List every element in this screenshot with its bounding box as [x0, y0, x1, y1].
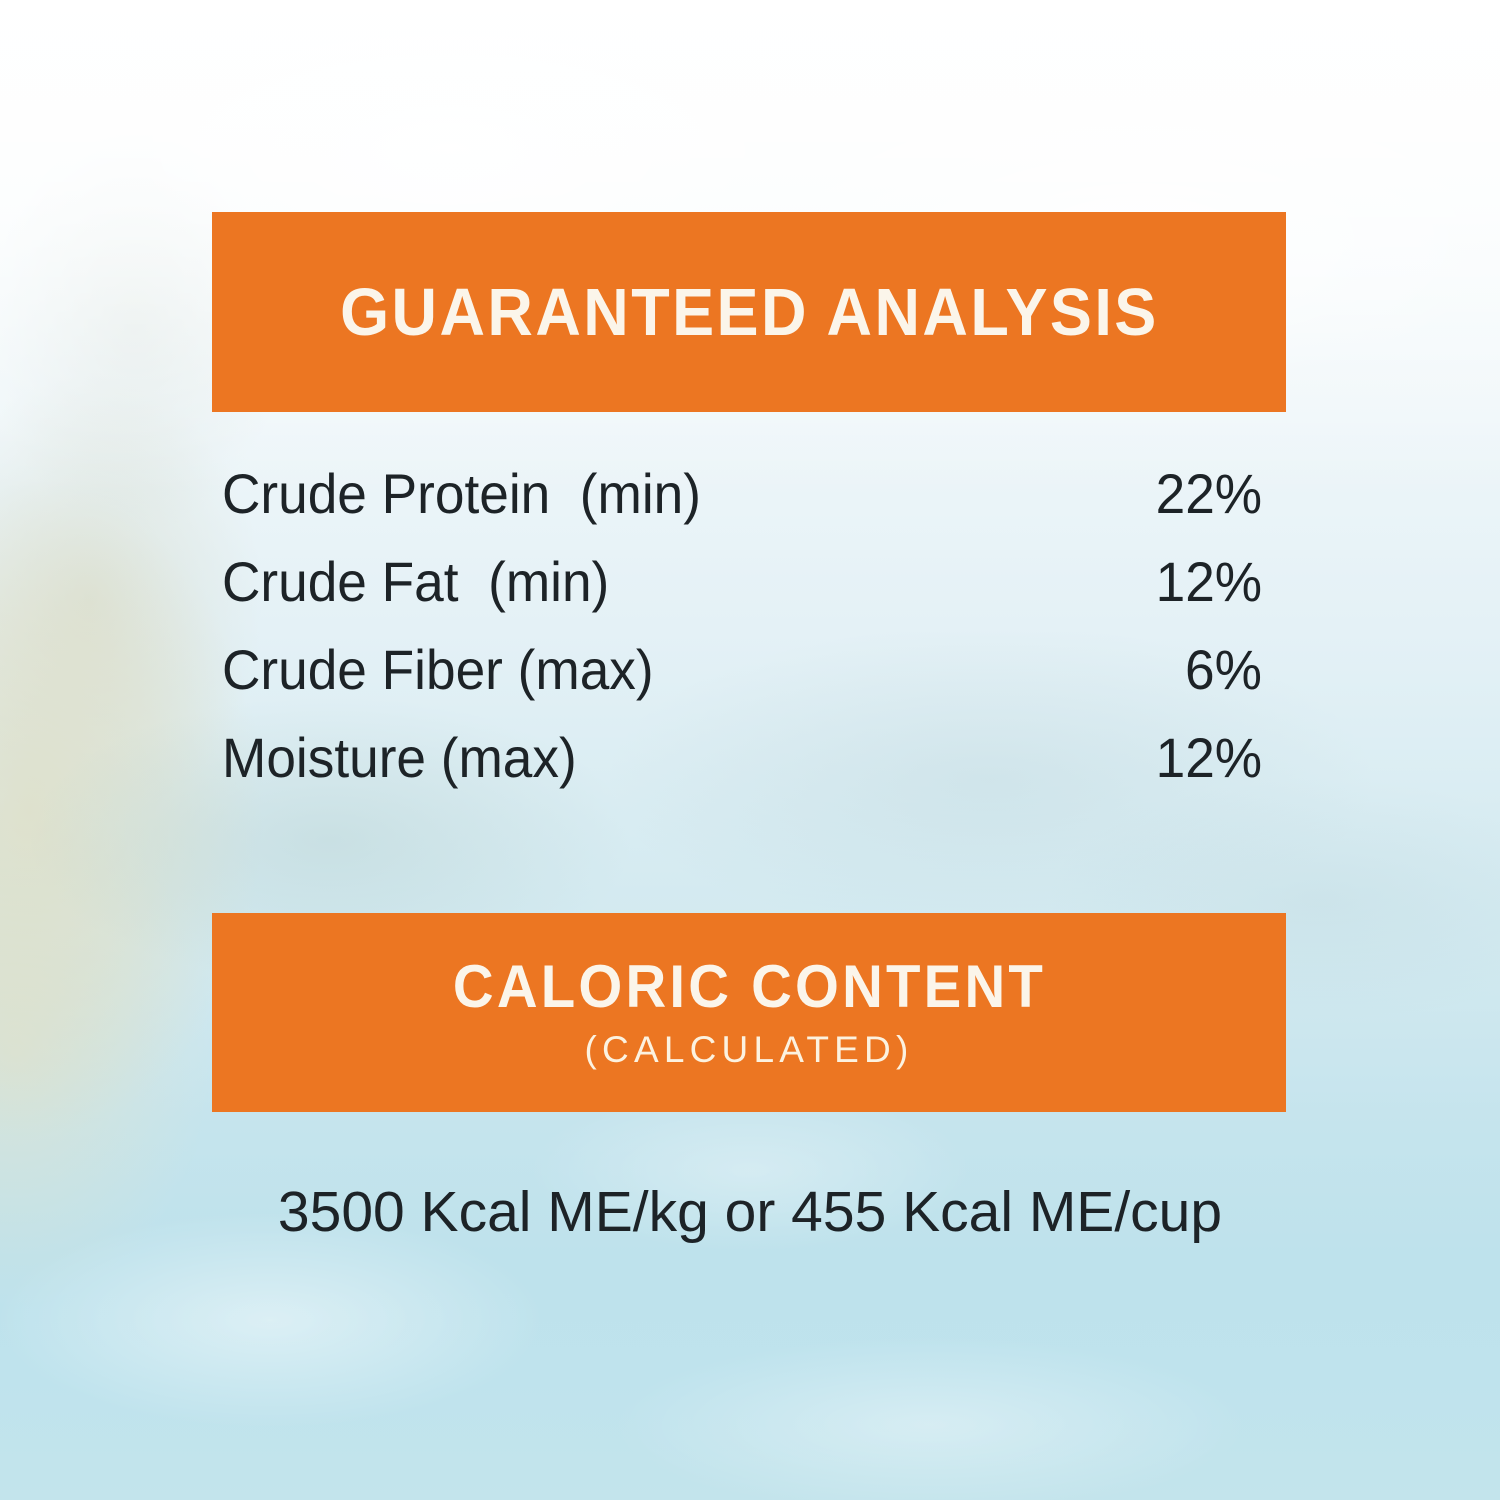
nutrient-label: Crude Protein (min) [222, 466, 701, 522]
table-row: Crude Fat (min) 12% [222, 554, 1262, 642]
guaranteed-analysis-table: Crude Protein (min) 22% Crude Fat (min) … [222, 466, 1262, 818]
table-row: Crude Protein (min) 22% [222, 466, 1262, 554]
caloric-content-subheading: (CALCULATED) [585, 1031, 914, 1068]
caloric-content-heading: CALORIC CONTENT [452, 957, 1045, 1017]
caloric-content-banner: CALORIC CONTENT (CALCULATED) [212, 913, 1286, 1112]
guaranteed-analysis-heading: GUARANTEED ANALYSIS [340, 279, 1159, 346]
table-row: Moisture (max) 12% [222, 730, 1262, 818]
nutrient-label: Crude Fat (min) [222, 554, 609, 610]
nutrient-label: Moisture (max) [222, 730, 577, 786]
table-row: Crude Fiber (max) 6% [222, 642, 1262, 730]
nutrient-label: Crude Fiber (max) [222, 642, 654, 698]
nutrient-value: 12% [1156, 730, 1262, 786]
nutrient-value: 12% [1156, 554, 1262, 610]
nutrient-value: 22% [1156, 466, 1262, 522]
guaranteed-analysis-banner: GUARANTEED ANALYSIS [212, 212, 1286, 412]
nutrient-value: 6% [1185, 642, 1262, 698]
nutrition-panel: GUARANTEED ANALYSIS Crude Protein (min) … [0, 0, 1500, 1500]
caloric-content-value: 3500 Kcal ME/kg or 455 Kcal ME/cup [0, 1184, 1500, 1241]
